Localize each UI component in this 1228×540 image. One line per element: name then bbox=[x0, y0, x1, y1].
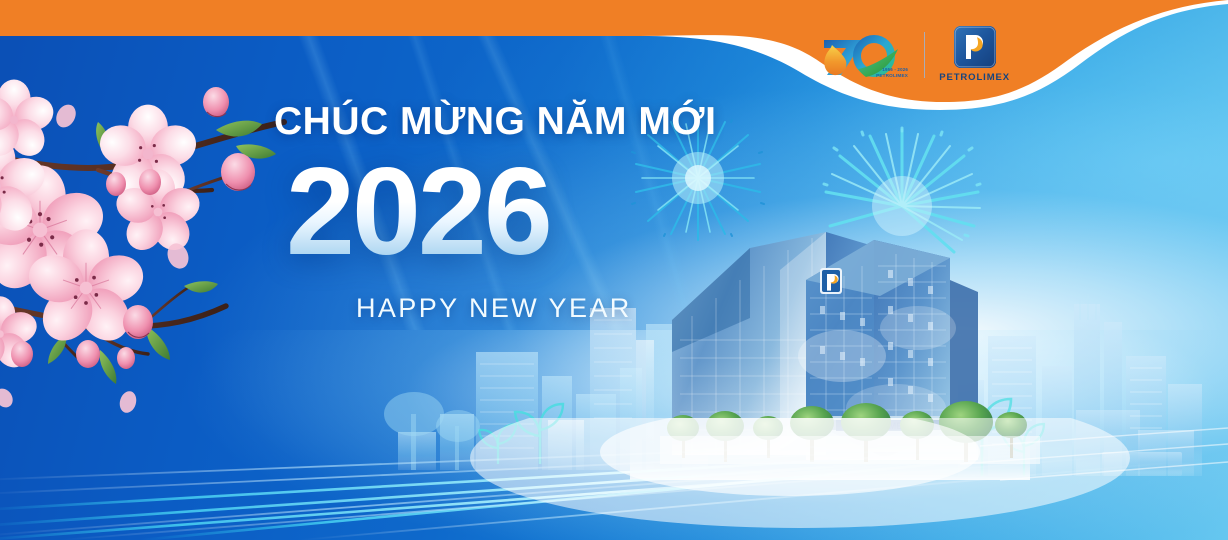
year-2026: 2026 bbox=[286, 150, 646, 274]
headline-vietnamese: CHÚC MỪNG NĂM MỚI bbox=[274, 100, 654, 144]
logo-bar: 1956 - 2026 PETROLIMEX bbox=[818, 26, 1010, 83]
petrolimex-p-flame-icon bbox=[954, 26, 996, 68]
anniversary-years: 1956 - 2026 bbox=[883, 67, 909, 72]
anniversary-70-logo: 1956 - 2026 PETROLIMEX bbox=[818, 29, 910, 81]
headline-english: HAPPY NEW YEAR bbox=[356, 293, 676, 324]
anniversary-brand: PETROLIMEX bbox=[876, 73, 909, 78]
petrolimex-logo: PETROLIMEX bbox=[939, 26, 1010, 83]
petrolimex-wordmark: PETROLIMEX bbox=[939, 72, 1010, 83]
new-year-banner: PETROLIMEX bbox=[0, 0, 1228, 540]
logo-divider bbox=[924, 32, 925, 78]
